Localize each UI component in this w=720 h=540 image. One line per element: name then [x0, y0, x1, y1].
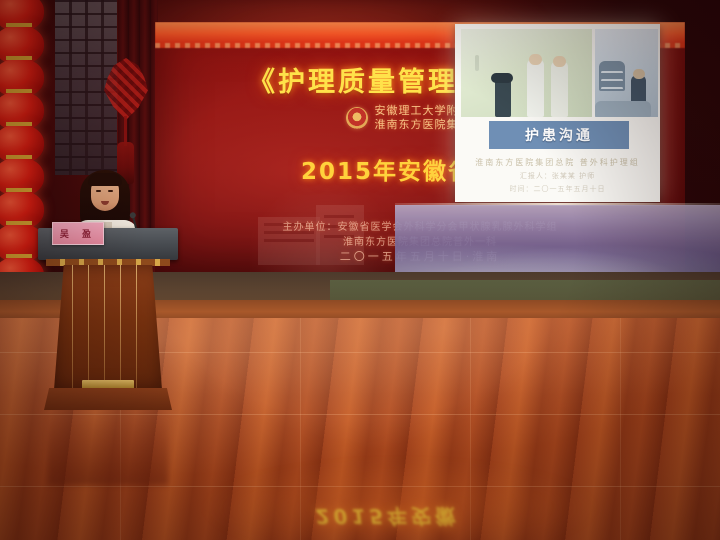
projector-screen: 护患沟通 淮南东方医院集团总院 普外科护理组 汇报人：张某某 护师 时间：二〇一… [455, 24, 660, 202]
podium-brass-plate [82, 380, 134, 389]
chinese-knot-ornament [100, 58, 152, 183]
slide-title-banner: 护患沟通 [489, 121, 629, 149]
slide-subtitle-2: 汇报人：张某某 护师 [455, 171, 660, 181]
podium-pinstripe [136, 265, 137, 390]
floor-seam-horizontal [0, 486, 720, 487]
podium-pinstripe [104, 265, 105, 390]
photo-nurse-uniform-2 [551, 61, 568, 117]
photo-figure-head [491, 73, 513, 83]
slide-title-text: 护患沟通 [525, 125, 593, 145]
slide-photo-nurse-patient [461, 29, 592, 117]
speaker-podium: 吴 盈 [38, 228, 178, 418]
photo-nurse-head-1 [529, 54, 542, 65]
slide-subtitle-1: 淮南东方医院集团总院 普外科护理组 [455, 157, 660, 168]
floor-seam-vertical [300, 318, 301, 540]
presenter-eye-left [96, 190, 101, 192]
podium-wood-body [54, 265, 162, 390]
window-mullion [85, 0, 88, 175]
floor-seam-vertical [470, 318, 471, 540]
hospital-seal-icon [346, 107, 368, 129]
podium-name-card: 吴 盈 [52, 222, 104, 245]
photo-pole [475, 55, 479, 71]
podium-gold-rail [46, 259, 170, 266]
presenter-mouth [101, 201, 109, 205]
podium-pinstripe [88, 265, 89, 390]
slide-photo-nurses-station [595, 29, 658, 117]
presenter-eye-right [108, 190, 113, 192]
podium-pinstripe [120, 265, 121, 390]
podium-base [44, 388, 172, 410]
photo-counter [595, 101, 651, 117]
knot-weave [104, 58, 148, 120]
photo-shelf-3 [601, 71, 623, 73]
photo-nurse-uniform-1 [527, 59, 544, 117]
window-mullion [69, 0, 72, 175]
painted-mountain-backdrop [395, 205, 720, 275]
floor-seam-vertical [620, 318, 621, 540]
photo-shelf-2 [601, 79, 623, 81]
presenter-fringe [88, 173, 122, 186]
slide-photo-strip [461, 29, 658, 117]
slide-subtitle-3: 时间：二〇一五年五月十日 [455, 184, 660, 194]
photo-nurse-head-2 [553, 56, 566, 67]
photo-shelf-1 [601, 87, 623, 89]
podium-name-card-text: 吴 盈 [60, 227, 96, 240]
podium-pinstripe [72, 265, 73, 390]
conference-stage-photo: 《护理质量管理》继教 安徽理工大学附属医院 淮南东方医院集团总院 2015年安徽… [0, 0, 720, 540]
